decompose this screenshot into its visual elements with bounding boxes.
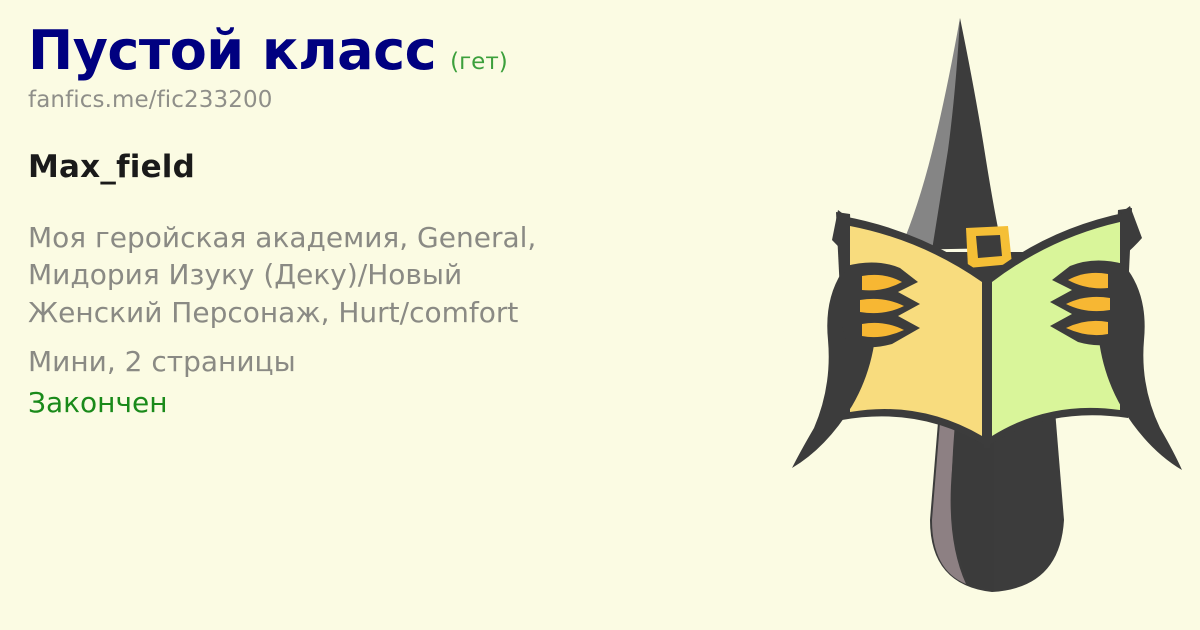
page-title: Пустой класс — [28, 22, 436, 79]
author-name: Max_field — [28, 149, 788, 185]
tag-list: Моя геройская академия, General, Мидория… — [28, 219, 758, 331]
tag-line: Мидория Изуку (Деку)/Новый — [28, 256, 758, 293]
tag-line: Женский Персонаж, Hurt/comfort — [28, 294, 758, 331]
category-label: (гет) — [450, 49, 508, 75]
source-url: fanfics.me/fic233200 — [28, 87, 788, 113]
size-label: Мини, 2 страницы — [28, 345, 788, 378]
wizard-reading-book-illustration — [780, 0, 1200, 630]
title-row: Пустой класс (гет) — [28, 22, 788, 79]
status-badge: Закончен — [28, 386, 788, 419]
text-column: Пустой класс (гет) fanfics.me/fic233200 … — [28, 22, 788, 419]
hat-buckle — [966, 226, 1012, 268]
fanfic-preview-card: Пустой класс (гет) fanfics.me/fic233200 … — [0, 0, 1200, 630]
tag-line: Моя геройская академия, General, — [28, 219, 758, 256]
